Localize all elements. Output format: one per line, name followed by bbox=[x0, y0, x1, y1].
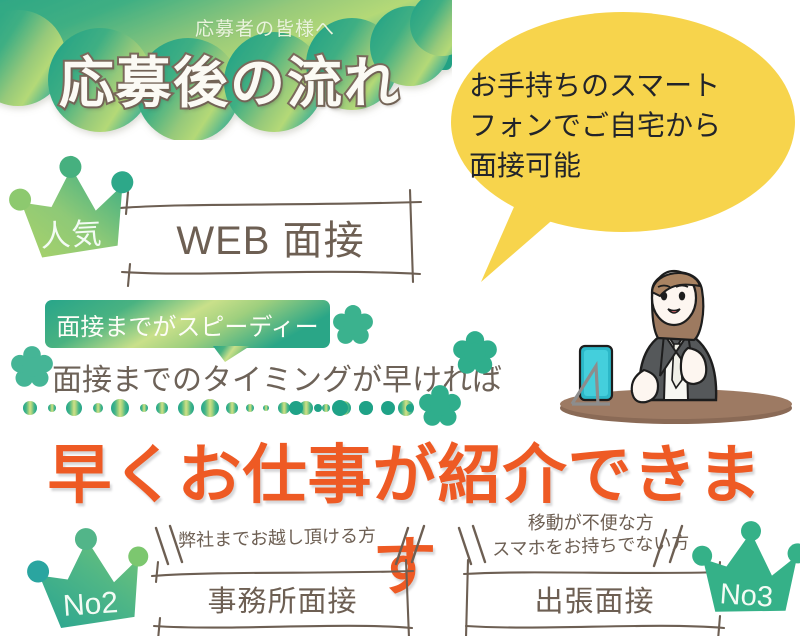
crown-badge-no3: No3 bbox=[689, 520, 800, 628]
dotted-divider-right bbox=[288, 396, 448, 420]
yellow-speech-bubble: お手持ちのスマート フォンでご自宅から 面接可能 bbox=[445, 4, 795, 294]
infographic-canvas: 応募者の皆様へ 応募後の流れ お手持ちのスマート フォンでご自宅から 面接可能 bbox=[0, 0, 800, 636]
yellow-bubble-text: お手持ちのスマート フォンでご自宅から 面接可能 bbox=[469, 66, 769, 185]
flower-icon bbox=[332, 304, 374, 346]
onsite-interview-box: 出張面接 bbox=[462, 568, 727, 630]
speedy-speech-bubble: 面接までがスピーディー bbox=[45, 300, 330, 362]
header-subtitle: 応募者の皆様へ bbox=[150, 14, 380, 41]
slash-marks-right-b bbox=[650, 524, 690, 570]
slash-marks-left-b bbox=[392, 524, 426, 566]
speedy-description: 面接までのタイミングが早ければ bbox=[52, 355, 472, 399]
onsite-interview-label: 出張面接 bbox=[462, 568, 727, 630]
woman-with-smartphone-illustration bbox=[548, 252, 794, 427]
crown-badge-no2: No2 bbox=[24, 526, 153, 636]
flower-icon bbox=[10, 345, 54, 389]
web-interview-label: WEB 面接 bbox=[118, 198, 423, 276]
yellow-bubble-line-2: フォンでご自宅から bbox=[469, 106, 769, 146]
office-interview-label: 事務所面接 bbox=[150, 568, 415, 630]
office-interview-box: 事務所面接 bbox=[150, 568, 415, 630]
speedy-bubble-label: 面接までがスピーディー bbox=[45, 300, 330, 348]
yellow-bubble-line-1: お手持ちのスマート bbox=[469, 66, 769, 106]
web-interview-box: WEB 面接 bbox=[118, 198, 423, 276]
page-title: 応募後の流れ bbox=[30, 38, 430, 118]
office-interview-caption: 弊社までお越し頂ける方 bbox=[178, 521, 377, 552]
yellow-bubble-line-3: 面接可能 bbox=[469, 146, 769, 186]
slash-marks-right-a bbox=[455, 524, 489, 566]
crown-badge-popular: 人気 bbox=[5, 157, 136, 275]
flower-icon bbox=[452, 330, 498, 376]
